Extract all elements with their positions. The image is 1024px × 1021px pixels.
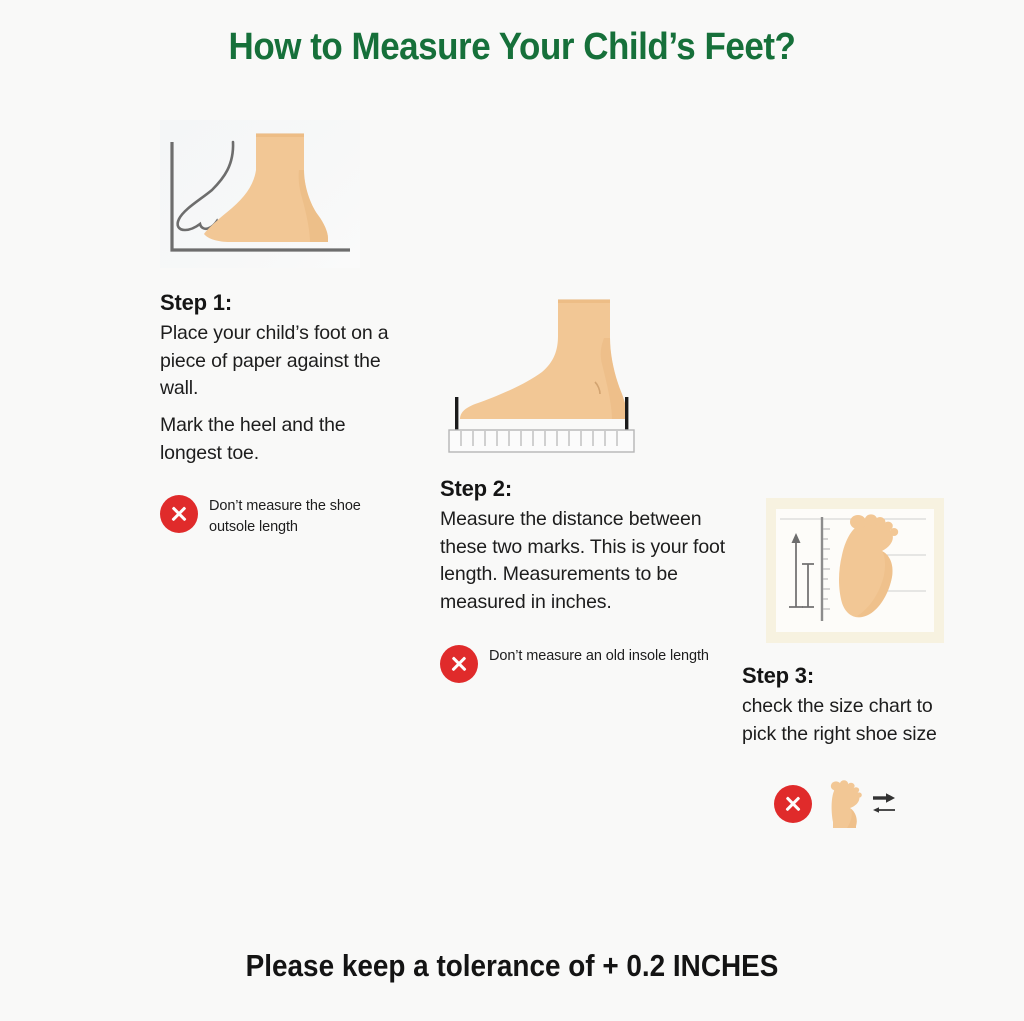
small-foot-sole-svg [823,778,865,830]
step-3-body: check the size chart to pick the right s… [742,693,967,748]
red-x-circle-icon [774,785,812,823]
size-chart-svg [776,509,932,631]
step-1-body-line-1: Place your child’s foot on a piece of pa… [160,320,392,403]
step-2-body-line-1: Measure the distance between these two m… [440,506,732,617]
step-3-body-line-1: check the size chart to pick the right s… [742,693,967,748]
foot-against-wall-svg [160,120,360,268]
step-3-text: Step 3: check the size chart to pick the… [742,663,967,748]
step-1-body-line-2: Mark the heel and the longest toe. [160,412,392,467]
foot-on-ruler-illustration [442,286,647,454]
foot-on-ruler-svg [442,286,647,454]
foot-sole-with-arrows-illustration [823,778,897,830]
step-3-warning [774,778,967,830]
step-2-block: Step 2: Measure the distance between the… [440,286,732,683]
foot-sole-on-size-chart-illustration [766,498,944,643]
size-chart-panel [776,509,934,632]
tolerance-note: Please keep a tolerance of + 0.2 INCHES [51,948,973,984]
step-2-text: Step 2: Measure the distance between the… [440,476,732,617]
page-title: How to Measure Your Child’s Feet? [41,26,983,69]
step-1-warning: Don’t measure the shoe outsole length [160,495,392,537]
step-3-block: Step 3: check the size chart to pick the… [742,498,967,830]
step-1-body: Place your child’s foot on a piece of pa… [160,320,392,467]
step-1-heading: Step 1: [160,290,392,316]
step-3-heading: Step 3: [742,663,967,689]
step-1-warning-text: Don’t measure the shoe outsole length [209,495,392,537]
arrows-icon [871,787,897,821]
step-2-body: Measure the distance between these two m… [440,506,732,617]
red-x-circle-icon [440,645,478,683]
step-2-heading: Step 2: [440,476,732,502]
step-1-block: Step 1: Place your child’s foot on a pie… [160,120,392,538]
step-2-warning-text: Don’t measure an old insole length [489,645,709,667]
step-1-text: Step 1: Place your child’s foot on a pie… [160,290,392,467]
step-2-warning: Don’t measure an old insole length [440,645,732,683]
foot-against-wall-illustration [160,120,360,268]
red-x-circle-icon [160,495,198,533]
